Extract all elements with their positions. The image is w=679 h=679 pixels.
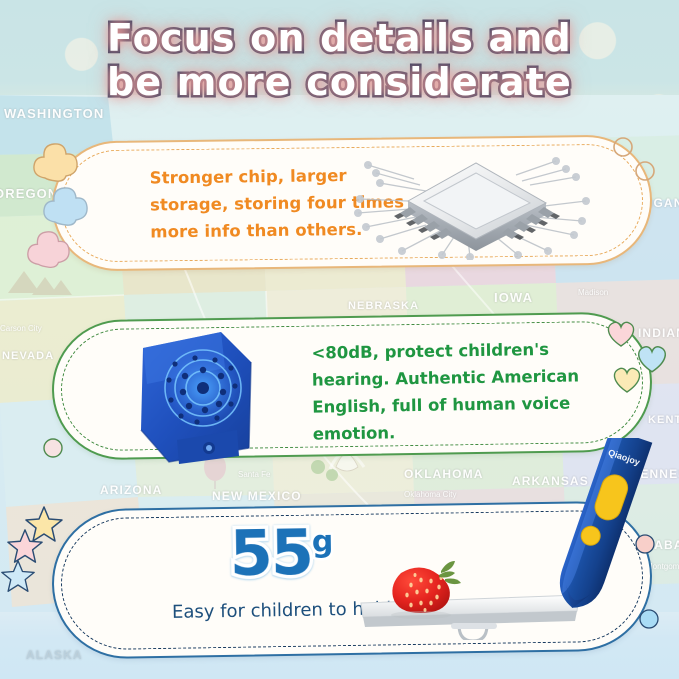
microchip-image <box>350 155 605 260</box>
product-feature-graphic: WASHINGTON OREGON NEVADA ARIZONA NEW MEX… <box>0 0 679 679</box>
speaker-module-image <box>125 330 275 465</box>
heart-pink-decoration <box>604 318 638 353</box>
pen-svg: Qiaojoy <box>528 438 663 628</box>
map-label-alaska: ALASKA <box>26 648 83 662</box>
map-label-new-mexico: NEW MEXICO <box>212 489 302 503</box>
microchip-svg <box>350 155 605 260</box>
speaker-svg <box>125 330 275 465</box>
map-city-carson-city: Carson City <box>0 324 42 333</box>
headline-line-1: Focus on details and <box>0 16 679 60</box>
circle-outline-decoration-left <box>42 437 64 464</box>
cloud-yellow-decoration <box>30 142 78 191</box>
star-blue-decoration <box>0 558 36 599</box>
map-city-santa-fe: Santa Fe <box>238 470 270 479</box>
map-label-kentucky: KENTUCKY <box>648 414 679 426</box>
headline-line-2: be more considerate <box>0 60 679 104</box>
cloud-pink-decoration <box>24 230 70 277</box>
heart-yellow-decoration <box>610 364 644 399</box>
map-label-arizona: ARIZONA <box>100 483 162 497</box>
headline: Focus on details and be more considerate <box>0 16 679 104</box>
circle-outline-decoration-1 <box>612 136 634 163</box>
map-label-washington: WASHINGTON <box>4 106 104 121</box>
map-city-oklahoma-city: Oklahoma City <box>404 490 456 499</box>
map-city-madison: Madison <box>578 288 608 297</box>
cloud-blue-decoration <box>40 186 88 235</box>
weight-number: 55 <box>229 516 312 590</box>
reading-pen-image: Qiaojoy <box>528 438 663 628</box>
circle-outline-decoration-2 <box>634 160 656 187</box>
map-label-oklahoma: OKLAHOMA <box>404 467 483 481</box>
audio-panel-text: <80dB, protect children's hearing. Authe… <box>311 335 603 448</box>
map-label-indiana: INDIANA <box>638 326 679 340</box>
weight-unit: g <box>312 524 334 559</box>
map-label-iowa: IOWA <box>494 290 533 305</box>
map-label-nevada: NEVADA <box>2 350 54 362</box>
map-label-nebraska: NEBRASKA <box>348 300 419 312</box>
